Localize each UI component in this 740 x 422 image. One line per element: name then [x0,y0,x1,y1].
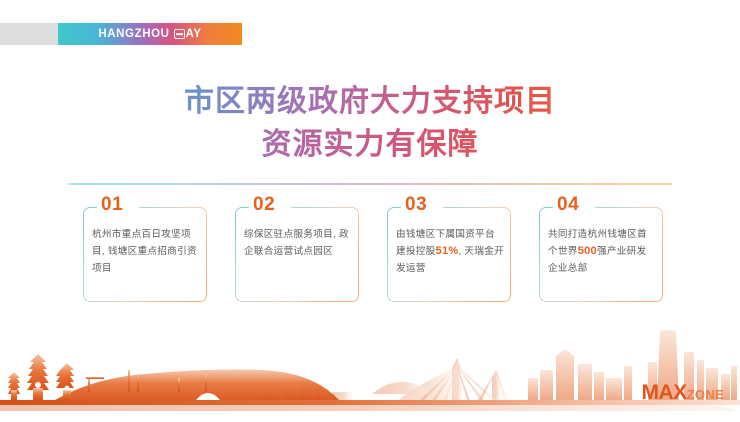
card-body-text: 由钱塘区下属国资平台建投控股51%, 天瑞金开发运营 [396,226,504,277]
highlight-card-02[interactable]: 02 综保区驻点服务项目, 政企联合运营试点园区 [235,207,359,302]
card-number-label: 03 [405,195,427,215]
brand-logo-text: HANGZHOU AY [98,28,201,40]
city-skyline-decoration: MAX ZONE [0,322,740,417]
skyline-icon [0,322,740,417]
card-body-text: 杭州市重点百日攻坚项目, 钱塘区重点招商引资项目 [92,226,200,277]
logo-bar-gradient-segment: HANGZHOU AY [58,23,242,45]
card-body-text: 共同打造杭州钱塘区首个世界500强产业研发企业总部 [548,226,656,277]
highlight-card-03[interactable]: 03 由钱塘区下属国资平台建投控股51%, 天瑞金开发运营 [387,207,511,302]
page-title: 市区两级政府大力支持项目 资源实力有保障 [0,80,740,166]
card-number-label: 01 [101,195,123,215]
highlight-card-01[interactable]: 01 杭州市重点百日攻坚项目, 钱塘区重点招商引资项目 [83,207,207,302]
card-body-text: 综保区驻点服务项目, 政企联合运营试点园区 [244,226,352,260]
stylized-b-icon [174,29,185,39]
maxzone-logo-zone: ZONE [687,388,724,401]
logo-bay-mark: AY [174,28,202,40]
card-text-highlight: 500 [578,245,597,257]
card-number-label: 02 [253,195,275,215]
title-divider [68,183,672,185]
card-text-before: 杭州市重点百日攻坚项目, 钱塘区重点招商引资项目 [92,229,197,274]
card-text-before: 综保区驻点服务项目, 政企联合运营试点园区 [244,229,349,257]
highlight-card-04[interactable]: 04 共同打造杭州钱塘区首个世界500强产业研发企业总部 [539,207,663,302]
brand-logo-bar: HANGZHOU AY [0,23,242,45]
logo-word-hangzhou: HANGZHOU [98,28,169,40]
page-title-line-1: 市区两级政府大力支持项目 [0,80,740,123]
page-title-line-2: 资源实力有保障 [0,123,740,166]
highlight-card-list: 01 杭州市重点百日攻坚项目, 钱塘区重点招商引资项目 02 综保区驻点服务项目… [83,207,663,302]
card-number-label: 04 [557,195,579,215]
logo-word-ay: AY [186,28,202,40]
card-text-highlight: 51% [436,245,459,257]
logo-bar-gray-segment [0,23,58,45]
maxzone-logo: MAX ZONE [642,382,724,403]
maxzone-logo-max: MAX [642,382,687,403]
